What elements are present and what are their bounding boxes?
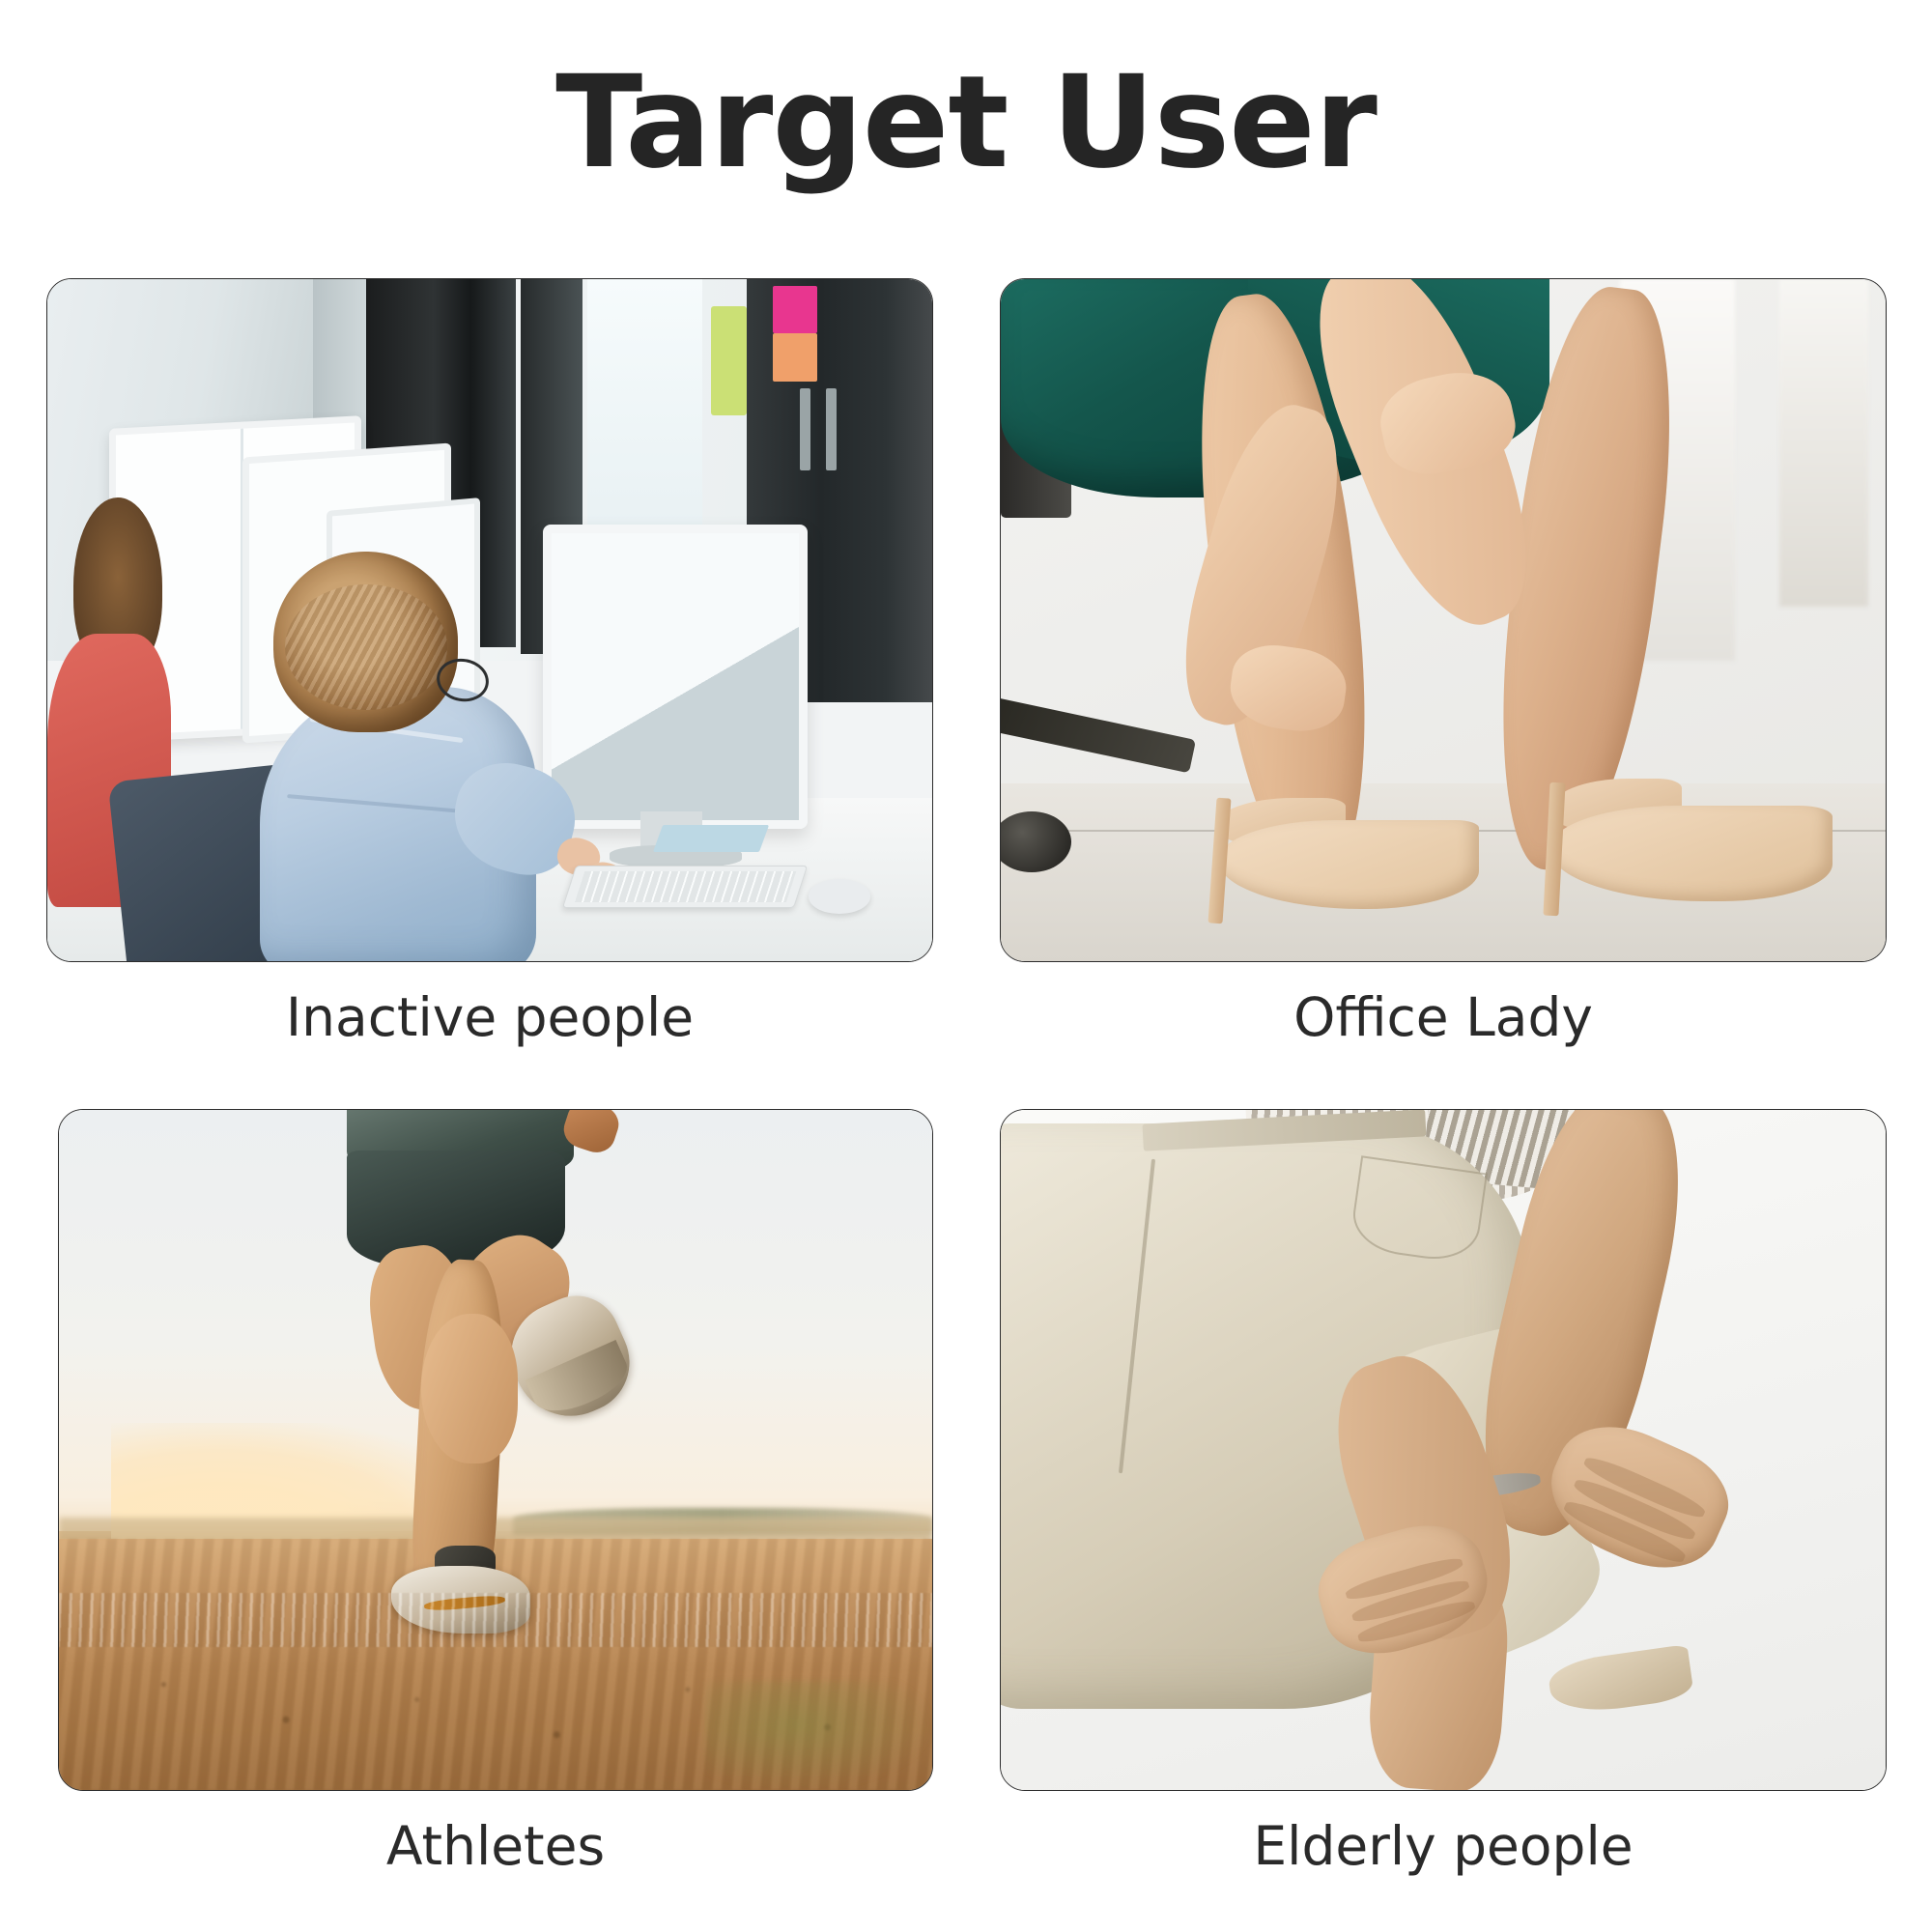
card-inactive-people[interactable] <box>46 278 933 962</box>
photo-inactive-people <box>46 278 933 962</box>
caption-athletes: Athletes <box>58 1814 933 1878</box>
woman-hair <box>273 552 458 731</box>
cabinet-handle-1 <box>800 388 810 470</box>
photo-athletes <box>58 1109 933 1791</box>
cabinet-handle-2 <box>826 388 837 470</box>
card-elderly-people[interactable] <box>1000 1109 1887 1791</box>
caption-office-lady: Office Lady <box>1000 985 1887 1049</box>
photo-elderly-people <box>1000 1109 1887 1791</box>
roadside-grass <box>705 1681 932 1790</box>
keyboard <box>562 866 809 908</box>
background-window-2 <box>1779 279 1868 607</box>
orange-sticky-note <box>773 333 817 381</box>
card-athletes[interactable] <box>58 1109 933 1791</box>
dust-kickup <box>59 1593 932 1647</box>
desk-papers <box>653 825 769 852</box>
mouse <box>809 879 870 913</box>
chair-leg <box>1000 692 1197 773</box>
office-green-accent <box>711 306 747 415</box>
caption-inactive-people: Inactive people <box>46 985 933 1049</box>
caption-elderly-people: Elderly people <box>1000 1814 1887 1878</box>
target-user-infographic: Target User <box>0 0 1932 1932</box>
runner-calf <box>421 1314 517 1463</box>
image-grid: Inactive people <box>0 0 1932 1932</box>
nude-high-heel-left <box>1196 743 1479 927</box>
photo-office-lady <box>1000 278 1887 962</box>
nude-high-heel-right <box>1532 729 1833 921</box>
pink-sticky-note <box>773 286 817 333</box>
seated-woman <box>260 552 613 961</box>
card-office-lady[interactable] <box>1000 278 1887 962</box>
